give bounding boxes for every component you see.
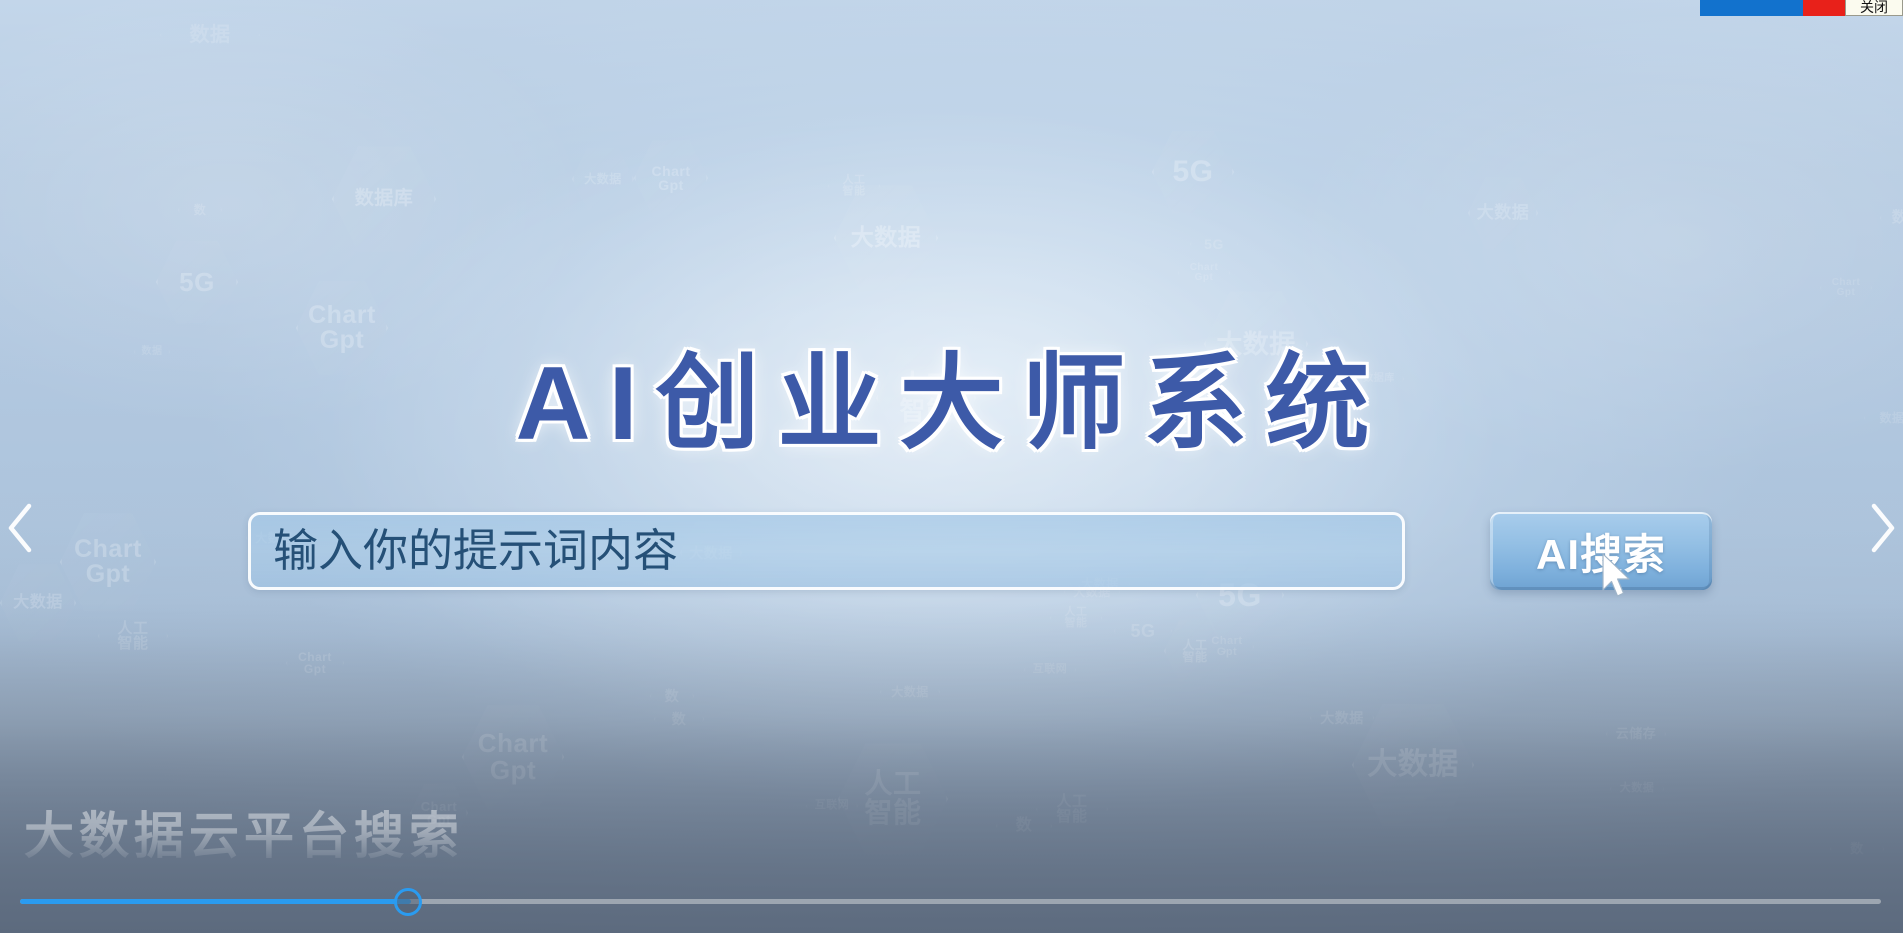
page-title: AI创业大师系统 <box>0 318 1903 469</box>
close-button[interactable]: 关闭 <box>1845 0 1903 16</box>
carousel-prev-button[interactable] <box>2 498 42 558</box>
top-chrome-red-indicator <box>1803 0 1845 16</box>
ai-search-button[interactable]: AI搜索 <box>1490 512 1712 590</box>
chevron-right-icon <box>1861 498 1901 558</box>
search-bar: AI搜索 <box>248 512 1713 590</box>
top-chrome-strip: 关闭 <box>1700 0 1903 16</box>
background-watermark-text: 大数据云平台搜索 <box>24 796 464 868</box>
chevron-left-icon <box>2 498 42 558</box>
carousel-next-button[interactable] <box>1861 498 1901 558</box>
slider-fill <box>20 899 411 904</box>
search-input[interactable] <box>248 512 1405 590</box>
app-stage: 数据库数5G大数据Chart Gpt人工 智能大数据5G大数据5GChart G… <box>0 0 1903 933</box>
bottom-slider[interactable] <box>0 885 1903 933</box>
top-chrome-blue-bar <box>1700 0 1803 16</box>
slider-handle[interactable] <box>394 888 422 916</box>
